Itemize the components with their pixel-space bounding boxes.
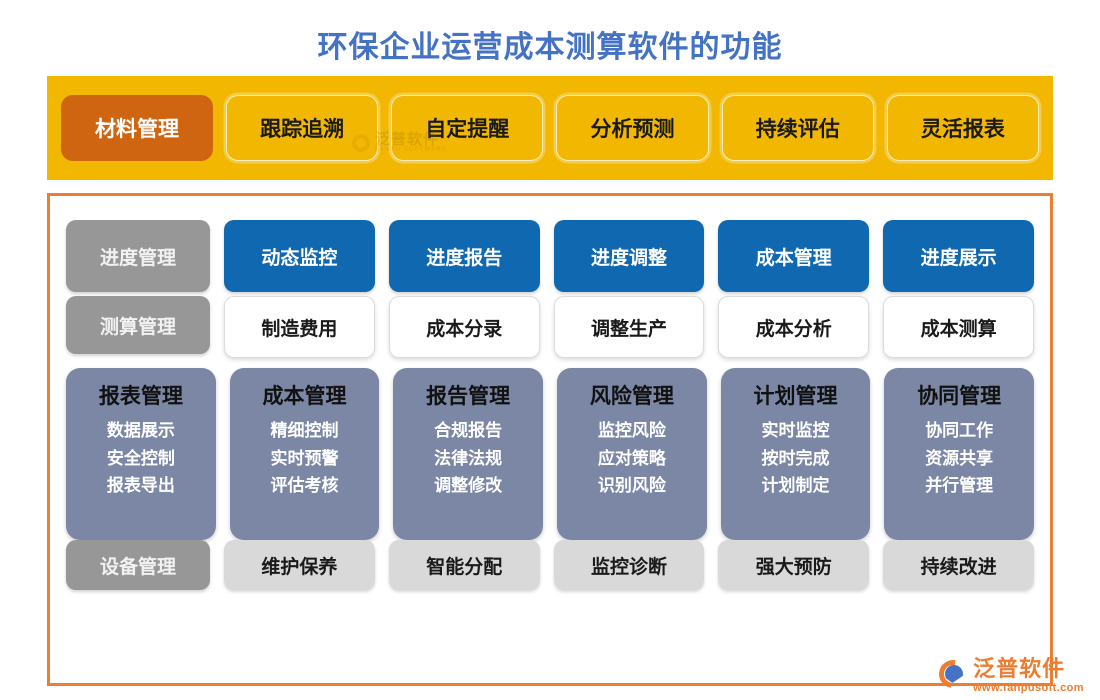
card-report-doc-management[interactable]: 报告管理 合规报告 法律法规 调整修改 [393, 368, 543, 540]
cell-maintenance-upkeep[interactable]: 维护保养 [224, 540, 375, 590]
cell-adjust-production[interactable]: 调整生产 [554, 296, 705, 358]
cell-dynamic-monitoring[interactable]: 动态监控 [224, 220, 375, 292]
card-item[interactable]: 合规报告 [434, 417, 502, 445]
rowlabel-progress-management[interactable]: 进度管理 [66, 220, 210, 292]
card-item[interactable]: 法律法规 [434, 445, 502, 473]
card-title: 报告管理 [426, 380, 510, 410]
card-item[interactable]: 计划制定 [762, 472, 830, 500]
cell-continuous-improvement[interactable]: 持续改进 [883, 540, 1034, 590]
card-risk-management[interactable]: 风险管理 监控风险 应对策略 识别风险 [557, 368, 707, 540]
tab-material-management[interactable]: 材料管理 [61, 95, 213, 161]
footer-logo-text: 泛普软件 www.fanpusoft.com [973, 658, 1084, 694]
card-title: 成本管理 [263, 380, 347, 410]
card-collaboration-management[interactable]: 协同管理 协同工作 资源共享 并行管理 [884, 368, 1034, 540]
tab-flexible-report[interactable]: 灵活报表 [887, 95, 1039, 161]
card-item[interactable]: 安全控制 [107, 445, 175, 473]
tab-analysis-forecast[interactable]: 分析预测 [556, 95, 708, 161]
content-panel: 进度管理 动态监控 进度报告 进度调整 成本管理 进度展示 测算管理 制造费用 … [47, 193, 1053, 686]
page-title: 环保企业运营成本测算软件的功能 [0, 22, 1100, 66]
card-plan-management[interactable]: 计划管理 实时监控 按时完成 计划制定 [721, 368, 871, 540]
top-tabbar: 材料管理 跟踪追溯 自定提醒 分析预测 持续评估 灵活报表 [47, 76, 1053, 180]
cell-cost-entry[interactable]: 成本分录 [389, 296, 540, 358]
card-item[interactable]: 识别风险 [598, 472, 666, 500]
cell-manufacturing-cost[interactable]: 制造费用 [224, 296, 375, 358]
fanpu-logo-icon [939, 660, 967, 688]
tab-tracking-trace[interactable]: 跟踪追溯 [226, 95, 378, 161]
footer-brand-name: 泛普软件 [973, 658, 1084, 680]
card-title: 报表管理 [99, 380, 183, 410]
card-item[interactable]: 按时完成 [762, 445, 830, 473]
row-progress-management: 进度管理 动态监控 进度报告 进度调整 成本管理 进度展示 [66, 220, 1034, 296]
card-item[interactable]: 数据展示 [107, 417, 175, 445]
card-item[interactable]: 应对策略 [598, 445, 666, 473]
cell-smart-allocation[interactable]: 智能分配 [389, 540, 540, 590]
rowlabel-equipment-management[interactable]: 设备管理 [66, 540, 210, 590]
cell-progress-adjustment[interactable]: 进度调整 [554, 220, 705, 292]
cell-cost-estimation[interactable]: 成本测算 [883, 296, 1034, 358]
row-estimation-management: 测算管理 制造费用 成本分录 调整生产 成本分析 成本测算 [66, 296, 1034, 368]
card-item[interactable]: 实时预警 [271, 445, 339, 473]
card-cost-management[interactable]: 成本管理 精细控制 实时预警 评估考核 [230, 368, 380, 540]
card-title: 协同管理 [917, 380, 1001, 410]
card-item[interactable]: 协同工作 [925, 417, 993, 445]
footer-url: www.fanpusoft.com [973, 683, 1084, 694]
row-equipment-management: 设备管理 维护保养 智能分配 监控诊断 强大预防 持续改进 [66, 540, 1034, 602]
card-item[interactable]: 监控风险 [598, 417, 666, 445]
card-title: 风险管理 [590, 380, 674, 410]
card-item[interactable]: 评估考核 [271, 472, 339, 500]
card-item[interactable]: 并行管理 [925, 472, 993, 500]
rowlabel-estimation-management[interactable]: 测算管理 [66, 296, 210, 354]
cell-cost-management[interactable]: 成本管理 [718, 220, 869, 292]
row-feature-cards: 报表管理 数据展示 安全控制 报表导出 成本管理 精细控制 实时预警 评估考核 … [66, 368, 1034, 540]
cell-cost-analysis[interactable]: 成本分析 [718, 296, 869, 358]
card-report-management[interactable]: 报表管理 数据展示 安全控制 报表导出 [66, 368, 216, 540]
card-title: 计划管理 [754, 380, 838, 410]
card-item[interactable]: 精细控制 [271, 417, 339, 445]
cell-strong-prevention[interactable]: 强大预防 [718, 540, 869, 590]
cell-progress-report[interactable]: 进度报告 [389, 220, 540, 292]
card-item[interactable]: 报表导出 [107, 472, 175, 500]
card-item[interactable]: 实时监控 [762, 417, 830, 445]
footer-logo: 泛普软件 www.fanpusoft.com [939, 658, 1084, 694]
tab-continuous-evaluation[interactable]: 持续评估 [722, 95, 874, 161]
card-item[interactable]: 调整修改 [434, 472, 502, 500]
cell-monitoring-diagnosis[interactable]: 监控诊断 [554, 540, 705, 590]
tab-custom-reminder[interactable]: 自定提醒 [391, 95, 543, 161]
cell-progress-display[interactable]: 进度展示 [883, 220, 1034, 292]
card-item[interactable]: 资源共享 [925, 445, 993, 473]
